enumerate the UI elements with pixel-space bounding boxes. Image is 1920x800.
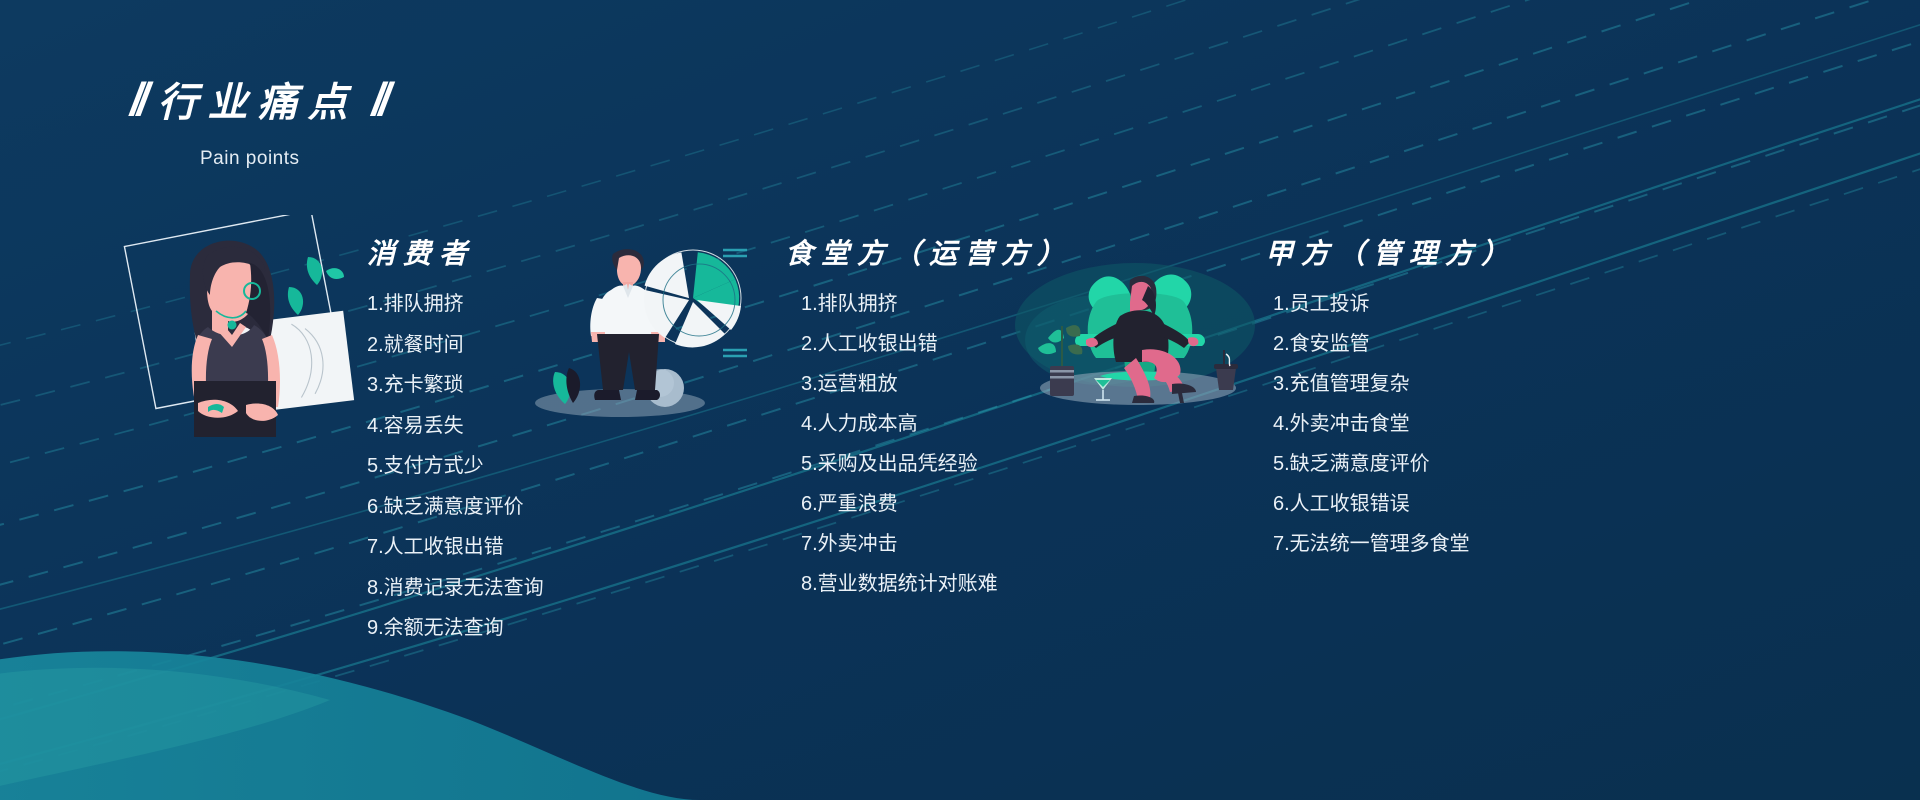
list-item: 2.食安监管: [1273, 334, 1517, 354]
list-item: 7.无法统一管理多食堂: [1273, 534, 1517, 554]
pain-point-list-client: 1.员工投诉 2.食安监管 3.充值管理复杂 4.外卖冲击食堂 5.缺乏满意度评…: [1273, 294, 1517, 554]
list-item: 1.排队拥挤: [367, 294, 544, 314]
column-heading-canteen: 食堂方（运营方）: [785, 232, 1073, 272]
pain-point-list-canteen: 1.排队拥挤 2.人工收银出错 3.运营粗放 4.人力成本高 5.采购及出品凭经…: [801, 294, 1073, 594]
list-item: 7.人工收银出错: [367, 537, 544, 557]
list-item: 8.营业数据统计对账难: [801, 574, 1073, 594]
column-client: 甲方（管理方） 1.员工投诉 2.食安监管 3.充值管理复杂 4.外卖冲击食堂 …: [1265, 232, 1517, 574]
page-subtitle: Pain points: [200, 148, 385, 170]
list-item: 6.人工收银错误: [1273, 494, 1517, 514]
pain-point-list-consumer: 1.排队拥挤 2.就餐时间 3.充卡繁琐 4.容易丢失 5.支付方式少 6.缺乏…: [367, 294, 544, 638]
list-item: 6.严重浪费: [801, 494, 1073, 514]
list-item: 1.排队拥挤: [801, 294, 1073, 314]
list-item: 3.充卡繁琐: [367, 375, 544, 395]
page-title: 行业痛点: [158, 70, 358, 128]
list-item: 6.缺乏满意度评价: [367, 497, 544, 517]
page-header: // 行业痛点 // Pain points: [130, 70, 385, 170]
slash-right-icon: //: [372, 76, 386, 122]
column-canteen: 食堂方（运营方） 1.排队拥挤 2.人工收银出错 3.运营粗放 4.人力成本高 …: [785, 232, 1073, 614]
column-heading-consumer: 消费者: [367, 232, 544, 272]
list-item: 4.外卖冲击食堂: [1273, 414, 1517, 434]
list-item: 5.支付方式少: [367, 456, 544, 476]
list-item: 5.采购及出品凭经验: [801, 454, 1073, 474]
man-with-pie-chart-illustration: [525, 240, 765, 420]
list-item: 8.消费记录无法查询: [367, 578, 544, 598]
list-item: 4.人力成本高: [801, 414, 1073, 434]
list-item: 2.就餐时间: [367, 335, 544, 355]
list-item: 5.缺乏满意度评价: [1273, 454, 1517, 474]
list-item: 9.余额无法查询: [367, 618, 544, 638]
list-item: 3.运营粗放: [801, 374, 1073, 394]
list-item: 2.人工收银出错: [801, 334, 1073, 354]
list-item: 1.员工投诉: [1273, 294, 1517, 314]
list-item: 7.外卖冲击: [801, 534, 1073, 554]
slash-left-icon: //: [130, 76, 144, 122]
column-consumer: 消费者 1.排队拥挤 2.就餐时间 3.充卡繁琐 4.容易丢失 5.支付方式少 …: [367, 232, 544, 659]
title-row: // 行业痛点 //: [130, 70, 385, 128]
list-item: 4.容易丢失: [367, 416, 544, 436]
column-heading-client: 甲方（管理方）: [1265, 232, 1517, 272]
slide-canvas: // 行业痛点 // Pain points: [0, 0, 1920, 800]
list-item: 3.充值管理复杂: [1273, 374, 1517, 394]
woman-in-frame-illustration: [120, 215, 370, 440]
